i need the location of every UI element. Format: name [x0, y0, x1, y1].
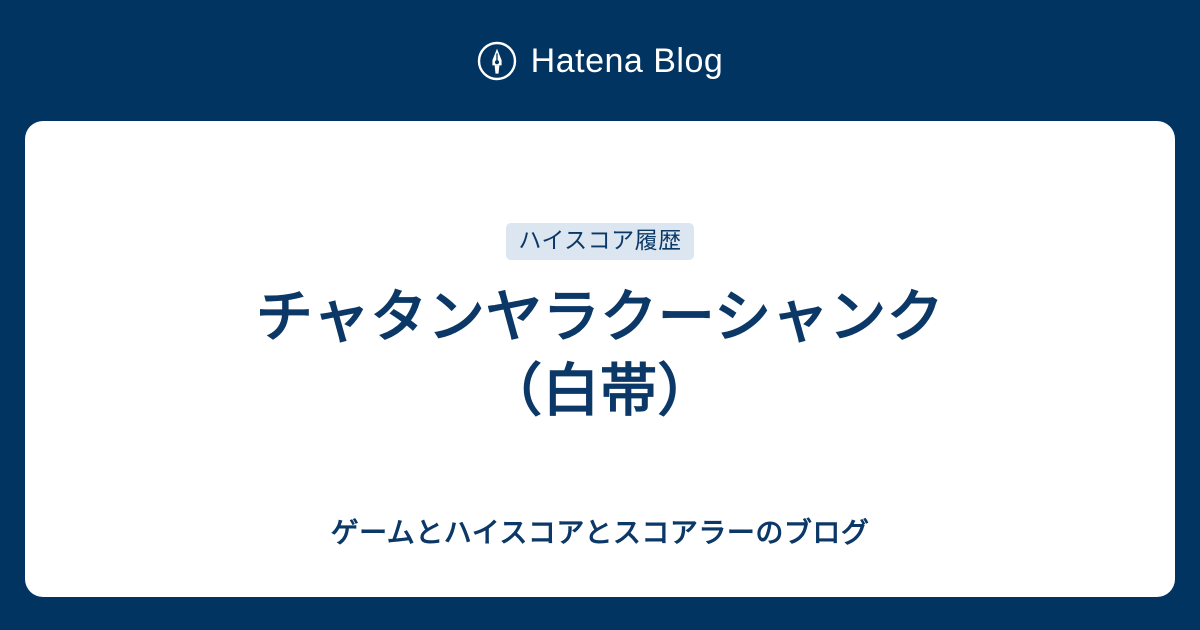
brand-header: Hatena Blog	[0, 0, 1200, 121]
og-image-root: Hatena Blog ハイスコア履歴 チャタンヤラクーシャンク （白帯） ゲー…	[0, 0, 1200, 630]
hatena-pen-nib-icon	[477, 41, 517, 81]
entry-title-line-2: （白帯）	[485, 359, 715, 423]
entry-title-line-1: チャタンヤラクーシャンク	[256, 285, 944, 349]
category-badge[interactable]: ハイスコア履歴	[506, 223, 693, 260]
entry-title: チャタンヤラクーシャンク （白帯）	[256, 280, 944, 428]
blog-title: ゲームとハイスコアとスコアラーのブログ	[331, 514, 870, 552]
entry-card-inner: ハイスコア履歴 チャタンヤラクーシャンク （白帯） ゲームとハイスコアとスコアラ…	[25, 121, 1175, 552]
entry-card: ハイスコア履歴 チャタンヤラクーシャンク （白帯） ゲームとハイスコアとスコアラ…	[25, 121, 1175, 597]
brand-name: Hatena Blog	[531, 41, 724, 81]
